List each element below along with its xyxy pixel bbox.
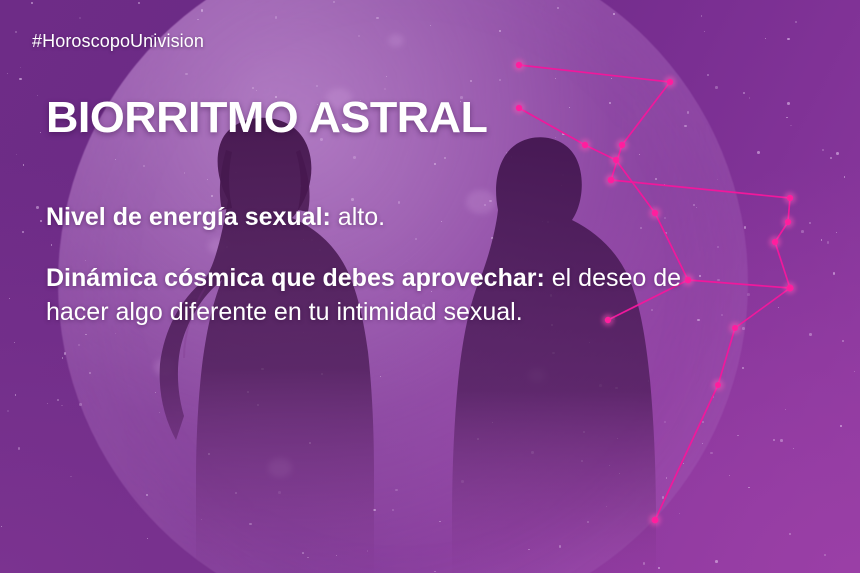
horoscope-card: #HoroscopoUnivision BIORRITMO ASTRAL Niv… [0, 0, 860, 573]
hashtag-label: #HoroscopoUnivision [32, 31, 204, 52]
text-content: #HoroscopoUnivision BIORRITMO ASTRAL Niv… [0, 0, 860, 573]
body-paragraph-label: Dinámica cósmica que debes aprovechar: [46, 264, 545, 292]
body-paragraph: Nivel de energía sexual: alto. [46, 200, 746, 235]
body-paragraph-label: Nivel de energía sexual: [46, 203, 331, 231]
body-paragraph: Dinámica cósmica que debes aprovechar: e… [46, 261, 746, 330]
page-title: BIORRITMO ASTRAL [46, 96, 487, 140]
body-copy: Nivel de energía sexual: alto.Dinámica c… [46, 200, 746, 330]
body-paragraph-value: alto. [331, 203, 385, 231]
